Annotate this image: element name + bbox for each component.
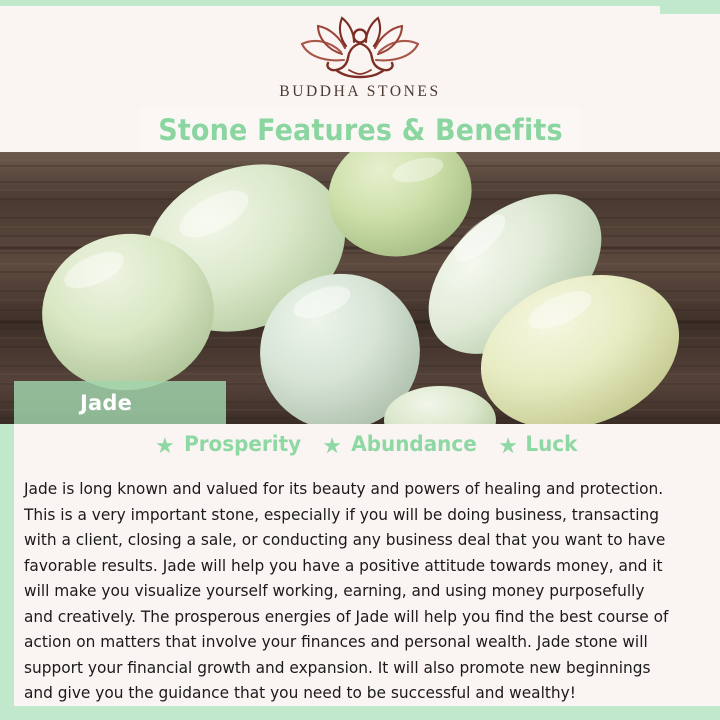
benefit-label: Abundance <box>352 432 477 456</box>
brand-logo: BUDDHA STONES <box>0 14 720 101</box>
benefit-item-abundance: ★ Abundance <box>322 432 480 456</box>
stone-description-text: Jade is long known and valued for its be… <box>24 476 677 706</box>
benefit-label: Luck <box>526 432 578 456</box>
lotus-meditation-figure-icon <box>294 14 426 80</box>
benefit-item-luck: ★ Luck <box>498 432 579 456</box>
stone-name: Jade <box>14 391 132 415</box>
star-icon: ★ <box>322 435 341 454</box>
page-title-strip: Stone Features & Benefits <box>140 108 580 152</box>
brand-name: BUDDHA STONES <box>0 83 720 101</box>
benefit-item-prosperity: ★ Prosperity <box>155 432 304 456</box>
stone-description-section: ★ Prosperity ★ Abundance ★ Luck Jade is … <box>0 424 720 720</box>
benefits-list: ★ Prosperity ★ Abundance ★ Luck <box>14 432 720 456</box>
star-icon: ★ <box>155 435 174 454</box>
star-icon: ★ <box>498 435 517 454</box>
page-title: Stone Features & Benefits <box>158 113 563 147</box>
stone-info-poster: BUDDHA STONES Stone Features & Benefits <box>0 0 720 720</box>
benefit-label: Prosperity <box>184 432 301 456</box>
stone-name-banner: Jade <box>14 381 226 424</box>
